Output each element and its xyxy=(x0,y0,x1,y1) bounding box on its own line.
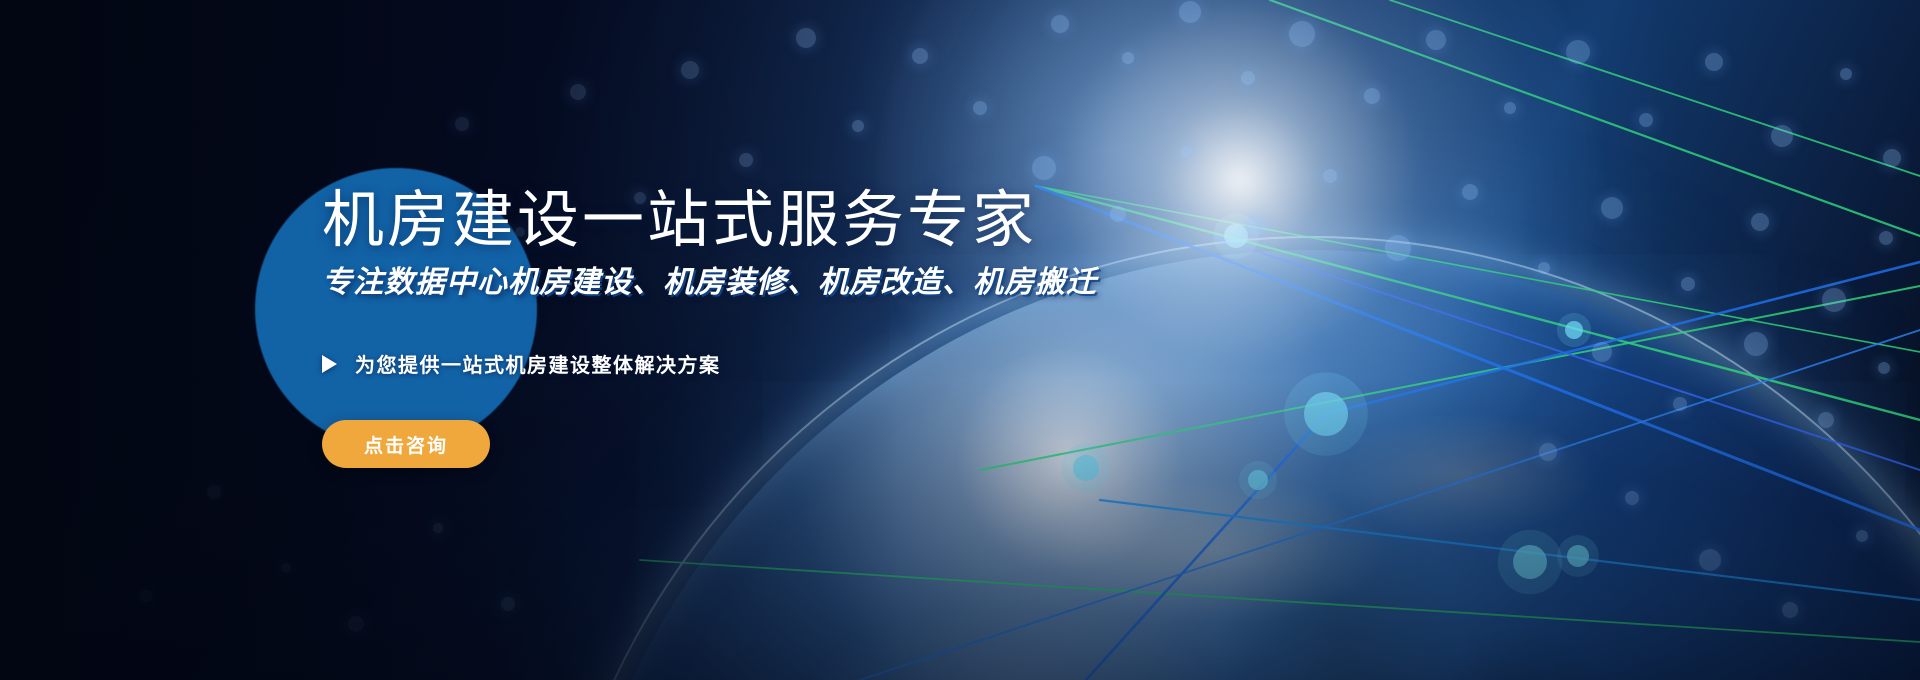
hero-tagline: 为您提供一站式机房建设整体解决方案 xyxy=(322,349,1502,378)
hero-banner: 机房建设一站式服务专家 专注数据中心机房建设、机房装修、机房改造、机房搬迁 为您… xyxy=(0,0,1920,680)
consult-button[interactable]: 点击咨询 xyxy=(322,420,490,468)
triangle-right-icon xyxy=(322,355,337,373)
hero-subtitle: 专注数据中心机房建设、机房装修、机房改造、机房搬迁 xyxy=(322,265,1502,301)
page-title: 机房建设一站式服务专家 xyxy=(322,186,1502,255)
hero-tagline-text: 为您提供一站式机房建设整体解决方案 xyxy=(355,349,721,378)
hero-copy-block: 机房建设一站式服务专家 专注数据中心机房建设、机房装修、机房改造、机房搬迁 为您… xyxy=(322,186,1502,468)
